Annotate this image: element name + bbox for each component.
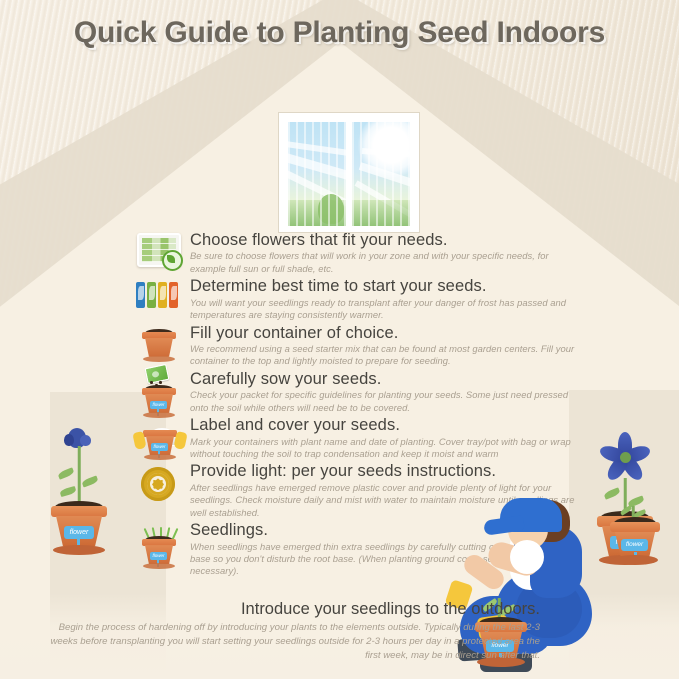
window-pane-left [286, 120, 348, 228]
terracotta-pot: flower [51, 506, 107, 548]
seedlings-pot-icon: flower [136, 521, 184, 565]
step-body: Mark your containers with plant name and… [190, 436, 576, 461]
step-heading: Determine best time to start your seeds. [190, 277, 576, 296]
seasons-calendar-icon [136, 277, 184, 321]
seed-packet-sowing-icon: flower [136, 370, 184, 414]
potted-blue-bud-flower: flower [42, 420, 116, 548]
step-body: Check your packet for specific guideline… [190, 389, 576, 414]
window-pane-right [350, 120, 412, 228]
step-heading: Carefully sow your seeds. [190, 370, 576, 389]
step-item: flower Label and cover your seeds. Mark … [136, 416, 576, 460]
blue-flower-open [597, 432, 653, 482]
step-item: flower Carefully sow your seeds. Check y… [136, 370, 576, 414]
step-body: We recommend using a seed starter mix th… [190, 343, 576, 368]
bottom-section: Introduce your seedlings to the outdoors… [34, 600, 540, 663]
window-illustration [279, 113, 419, 232]
glove-right-icon [173, 431, 187, 450]
window-blinds-right [352, 122, 410, 226]
step-body: Be sure to choose flowers that will work… [190, 250, 576, 275]
page-title: Quick Guide to Planting Seed Indoors [0, 16, 679, 50]
step-heading: Fill your container of choice. [190, 324, 576, 343]
infographic-poster: Quick Guide to Planting Seed Indoors [0, 0, 679, 679]
step-heading: Label and cover your seeds. [190, 416, 576, 435]
gardener-sleeve [510, 540, 544, 574]
step-heading: Provide light: per your seeds instructio… [190, 462, 576, 481]
bottom-heading: Introduce your seedlings to the outdoors… [34, 600, 540, 619]
filled-pot-icon [136, 324, 184, 368]
window-blinds-left [288, 122, 346, 226]
step-heading: Choose flowers that fit your needs. [190, 231, 576, 250]
gloves-covered-pot-icon: flower [136, 416, 184, 460]
bottom-body: Begin the process of hardening off by in… [34, 621, 540, 663]
pot-label-tag: flower [64, 526, 94, 539]
sun-light-icon [136, 462, 184, 506]
step-item: Fill your container of choice. We recomm… [136, 324, 576, 368]
pot-label-tag: flower [150, 552, 167, 560]
step-body: You will want your seedlings ready to tr… [190, 297, 576, 322]
step-item: Choose flowers that fit your needs. Be s… [136, 231, 576, 275]
pot-label-tag: flower [150, 401, 167, 409]
seed-catalog-icon [136, 231, 184, 275]
step-item: Determine best time to start your seeds.… [136, 277, 576, 321]
pot-label-tag: flower [151, 443, 168, 451]
